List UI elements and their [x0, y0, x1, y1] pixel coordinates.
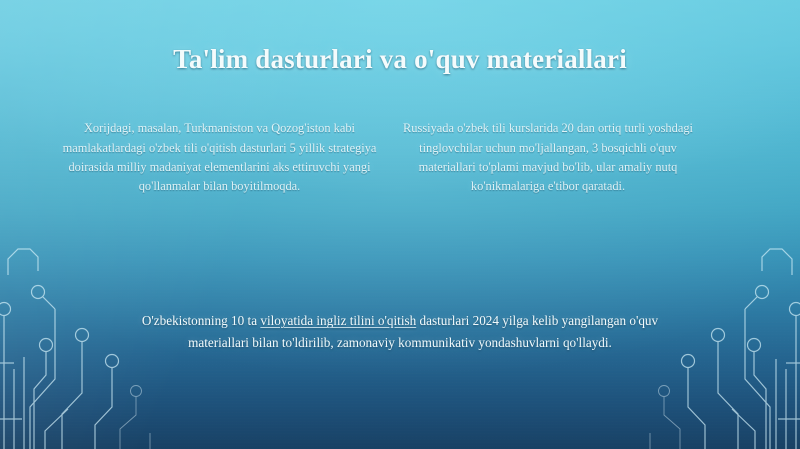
bottom-paragraph-lead: O'zbekistonning 10 ta [142, 313, 260, 328]
text-block-right: Russiyada o'zbek tili kurslarida 20 dan … [398, 119, 698, 196]
text-block-left: Xorijdagi, masalan, Turkmaniston va Qozo… [52, 119, 387, 196]
slide-title: Ta'lim dasturlari va o'quv materiallari [0, 44, 800, 75]
text-block-bottom: O'zbekistonning 10 ta viloyatida ingliz … [130, 310, 670, 353]
slide-canvas: Ta'lim dasturlari va o'quv materiallari … [0, 0, 800, 449]
bottom-paragraph-underlined-phrase: viloyatida ingliz tilini o'qitish [260, 313, 416, 328]
